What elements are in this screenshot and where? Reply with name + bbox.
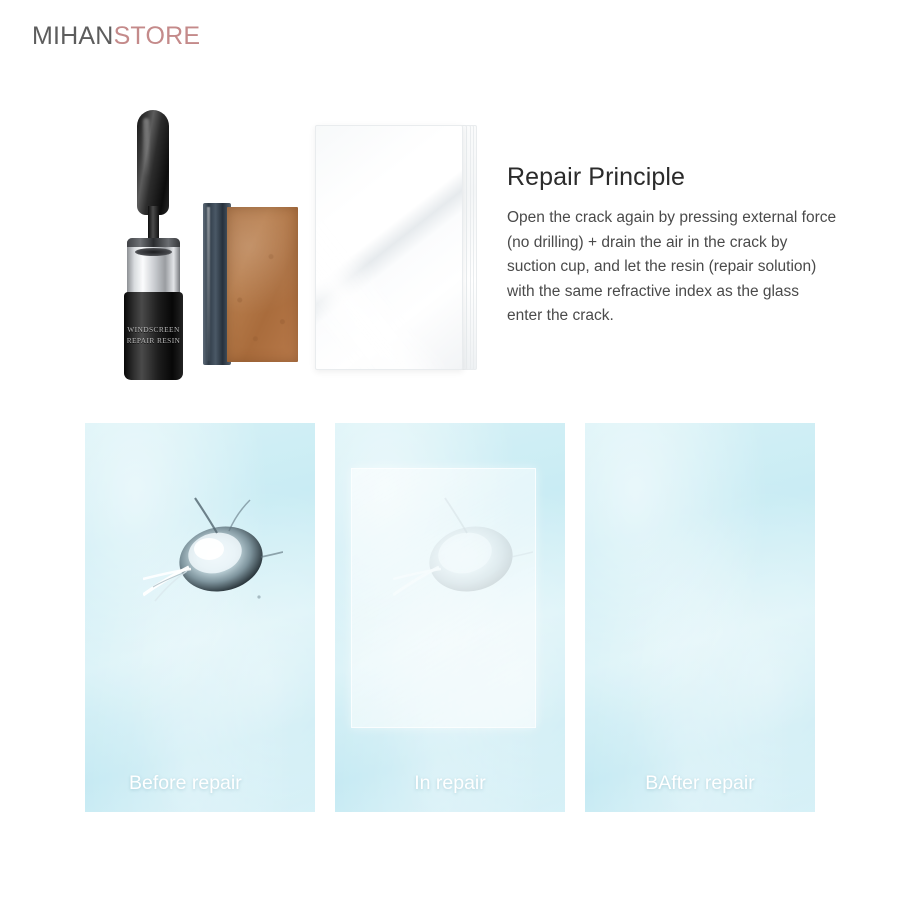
panel-before-repair: Before repair <box>85 423 315 812</box>
bottle-metal-collar <box>127 238 180 298</box>
panel-caption: Before repair <box>85 772 315 795</box>
brand-name-primary: MIHAN <box>32 22 114 50</box>
section-body-text: Open the crack again by pressing externa… <box>507 206 837 329</box>
resin-dropper-bottle: WINDSCREEN REPAIR RESIN <box>108 110 198 380</box>
glass-surface <box>585 423 815 812</box>
section-heading: Repair Principle <box>507 163 837 192</box>
comparison-panel-group: Before repair <box>85 423 815 812</box>
repair-principle-section: Repair Principle Open the crack again by… <box>507 163 837 329</box>
panel-after-repair: BAfter repair <box>585 423 815 812</box>
bottle-label: WINDSCREEN REPAIR RESIN <box>124 324 183 346</box>
film-sheet-top <box>315 125 463 370</box>
curing-film-sheets <box>315 125 475 370</box>
curing-film-overlay <box>351 468 536 728</box>
brand-name-secondary: STORE <box>114 22 201 50</box>
film-gloss-highlight <box>316 126 462 369</box>
brand-logo: MIHANSTORE <box>32 22 200 51</box>
bottle-label-line1: WINDSCREEN <box>124 324 183 335</box>
panel-caption: BAfter repair <box>585 772 815 795</box>
blade-and-pad-group <box>203 203 298 365</box>
windshield-chip-icon <box>143 497 283 632</box>
bottle-label-line2: REPAIR RESIN <box>124 335 183 346</box>
panel-in-repair: In repair <box>335 423 565 812</box>
dropper-bulb-icon <box>137 110 169 215</box>
bottle-body: WINDSCREEN REPAIR RESIN <box>124 292 183 380</box>
leather-pad <box>227 207 298 362</box>
panel-caption: In repair <box>335 772 565 795</box>
